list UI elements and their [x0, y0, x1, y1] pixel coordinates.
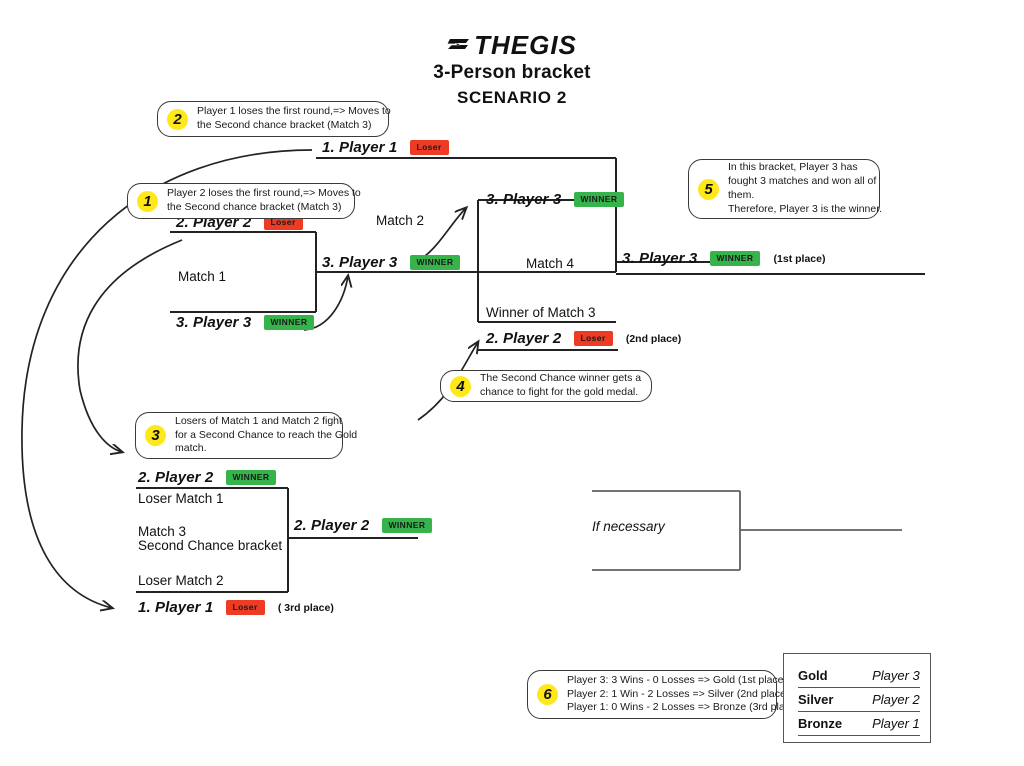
- slot-label: 3. Player 3: [486, 191, 561, 208]
- medal-table: Gold Player 3 Silver Player 2 Bronze Pla…: [783, 653, 931, 743]
- slot-label: 1. Player 1: [322, 139, 397, 156]
- callout-text: Player 2 loses the first round,=> Moves …: [167, 187, 361, 215]
- match3-label-line2: Second Chance bracket: [138, 538, 282, 555]
- slot-match1-bottom: 3. Player 3 WINNER: [176, 315, 314, 330]
- callout-text: Losers of Match 1 and Match 2 fight for …: [175, 415, 357, 457]
- bracket-canvas: THEGIS 3-Person bracket SCENARIO 2: [0, 0, 1024, 766]
- medal-player: Player 2: [872, 688, 920, 712]
- place-label: ( 3rd place): [278, 602, 334, 614]
- place-label: (1st place): [774, 253, 826, 265]
- slot-label: 3. Player 3: [176, 314, 251, 331]
- callout-6: 6 Player 3: 3 Wins - 0 Losses => Gold (1…: [527, 670, 777, 719]
- table-row: Gold Player 3: [798, 664, 920, 688]
- slot-label: 2. Player 2: [138, 469, 213, 486]
- callout-4: 4 The Second Chance winner gets a chance…: [440, 370, 652, 402]
- table-row: Bronze Player 1: [798, 712, 920, 736]
- match4-bottom-source: Winner of Match 3: [486, 305, 596, 322]
- status-badge: WINNER: [382, 518, 433, 533]
- medal-player: Player 1: [872, 712, 920, 736]
- callout-3: 3 Losers of Match 1 and Match 2 fight fo…: [135, 412, 343, 459]
- match3-bottom-source: Loser Match 2: [138, 573, 224, 590]
- medal-name: Silver: [798, 688, 872, 712]
- callout-text: The Second Chance winner gets a chance t…: [480, 372, 641, 400]
- callout-number: 5: [698, 179, 719, 200]
- callout-number: 2: [167, 109, 188, 130]
- slot-match4-bottom: 2. Player 2 Loser (2nd place): [486, 331, 681, 346]
- slot-label: 1. Player 1: [138, 599, 213, 616]
- status-badge: WINNER: [264, 315, 315, 330]
- status-badge: Loser: [226, 600, 265, 615]
- slot-match3-winner: 2. Player 2 WINNER: [294, 518, 432, 533]
- status-badge: WINNER: [710, 251, 761, 266]
- place-label: (2nd place): [626, 333, 681, 345]
- slot-label: 3. Player 3: [322, 254, 397, 271]
- callout-5: 5 In this bracket, Player 3 has fought 3…: [688, 159, 880, 219]
- callout-2: 2 Player 1 loses the first round,=> Move…: [157, 101, 389, 137]
- callout-text: Player 3: 3 Wins - 0 Losses => Gold (1st…: [567, 674, 799, 716]
- callout-text: In this bracket, Player 3 has fought 3 m…: [728, 161, 882, 216]
- match1-label: Match 1: [178, 269, 226, 286]
- slot-match2-bottom: 3. Player 3 WINNER: [322, 255, 460, 270]
- callout-number: 3: [145, 425, 166, 446]
- status-badge: Loser: [574, 331, 613, 346]
- slot-label: 2. Player 2: [294, 517, 369, 534]
- status-badge: WINNER: [410, 255, 461, 270]
- callout-1: 1 Player 2 loses the first round,=> Move…: [127, 183, 355, 219]
- slot-match3-bottom: 1. Player 1 Loser ( 3rd place): [138, 600, 334, 615]
- slot-match4-winner: 3. Player 3 WINNER (1st place): [622, 251, 825, 266]
- slot-match3-top: 2. Player 2 WINNER: [138, 470, 276, 485]
- callout-number: 4: [450, 376, 471, 397]
- match3-top-source: Loser Match 1: [138, 491, 224, 508]
- status-badge: WINNER: [226, 470, 277, 485]
- match4-label: Match 4: [526, 256, 574, 273]
- callout-number: 6: [537, 684, 558, 705]
- if-necessary-label: If necessary: [592, 519, 665, 536]
- match2-label: Match 2: [376, 213, 424, 230]
- slot-label: 3. Player 3: [622, 250, 697, 267]
- medal-player: Player 3: [872, 664, 920, 688]
- slot-match2-top: 1. Player 1 Loser: [322, 140, 449, 155]
- status-badge: WINNER: [574, 192, 625, 207]
- medal-name: Bronze: [798, 712, 872, 736]
- table-row: Silver Player 2: [798, 688, 920, 712]
- arrow-match2-winner-to-match4: [422, 208, 466, 258]
- medal-name: Gold: [798, 664, 872, 688]
- slot-label: 2. Player 2: [486, 330, 561, 347]
- slot-match4-top: 3. Player 3 WINNER: [486, 192, 624, 207]
- callout-number: 1: [137, 191, 158, 212]
- status-badge: Loser: [410, 140, 449, 155]
- callout-text: Player 1 loses the first round,=> Moves …: [197, 105, 391, 133]
